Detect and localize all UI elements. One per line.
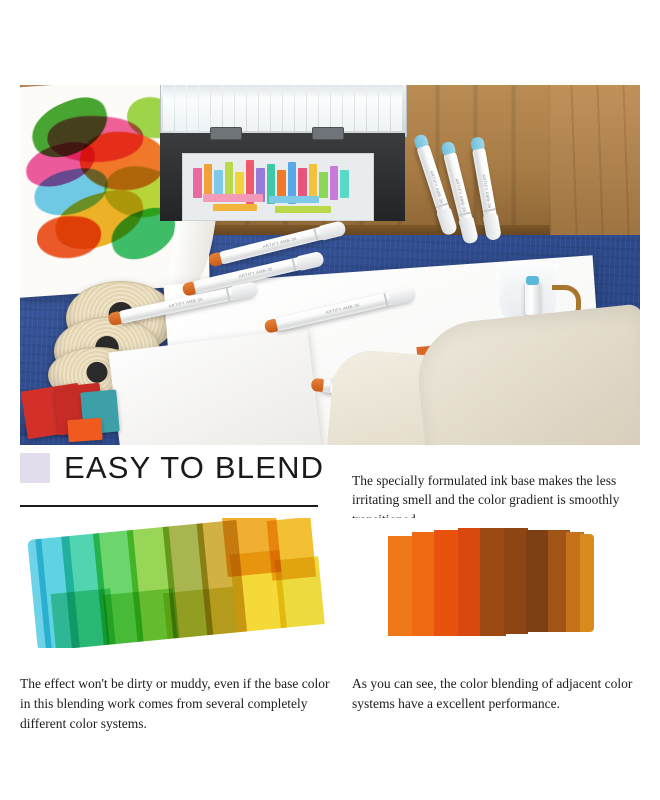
section-divider <box>20 505 318 507</box>
wood-panel-right <box>550 85 640 245</box>
case-latch-right <box>312 127 344 140</box>
case-latch-left <box>210 127 242 140</box>
marker-tip <box>311 378 324 392</box>
color-card-orange <box>67 418 102 442</box>
blend-swatch-right <box>352 518 642 648</box>
product-listing-image: ARTIFY AMB-36 ARTIFY AMB-36 ARTIFY AMB-3… <box>0 0 660 800</box>
heading-row: EASY TO BLEND <box>20 452 324 483</box>
caption-right: As you can see, the color blending of ad… <box>352 674 652 715</box>
case-color-chart-card <box>182 153 374 221</box>
orange-brown-blend-swatch <box>388 528 593 636</box>
caption-left: The effect won't be dirty or muddy, even… <box>20 674 332 735</box>
marker-tip <box>470 136 485 150</box>
marker-carrying-case <box>160 85 405 223</box>
marker-band <box>292 258 297 271</box>
blend-swatch-left <box>20 518 328 648</box>
marker-band <box>383 293 388 306</box>
page-title: EASY TO BLEND <box>64 452 324 483</box>
marker-cap-standalone <box>525 281 540 315</box>
product-photo: ARTIFY AMB-36 ARTIFY AMB-36 ARTIFY AMB-3… <box>20 85 640 445</box>
marker-band <box>226 288 231 301</box>
case-markers-row <box>163 85 402 131</box>
marker-band <box>313 228 318 241</box>
cool-to-warm-blend-swatch <box>27 518 324 648</box>
heading-swatch-square <box>20 453 50 483</box>
